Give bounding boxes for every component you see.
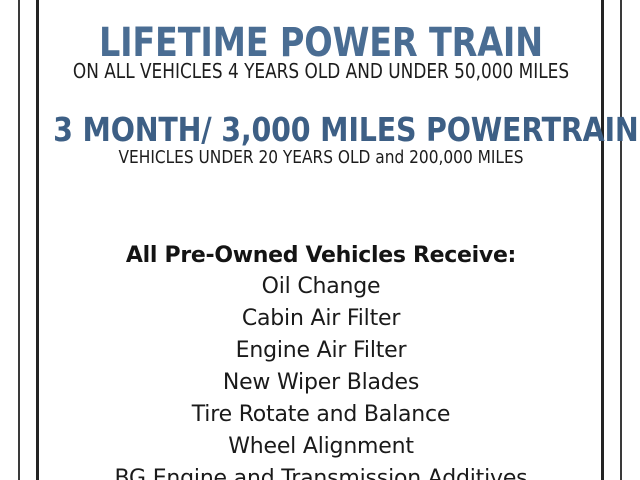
service-item: Wheel Alignment bbox=[42, 431, 600, 463]
services-section: All Pre-Owned Vehicles Receive: Oil Chan… bbox=[42, 240, 600, 480]
page-border-left-outer bbox=[18, 0, 20, 480]
service-item: Cabin Air Filter bbox=[42, 303, 600, 335]
services-heading: All Pre-Owned Vehicles Receive: bbox=[42, 240, 600, 271]
warranty-subline-3month: VEHICLES UNDER 20 YEARS OLD and 200,000 … bbox=[56, 149, 586, 167]
warranty-subline-lifetime: ON ALL VEHICLES 4 YEARS OLD AND UNDER 50… bbox=[59, 61, 584, 81]
services-list: Oil ChangeCabin Air FilterEngine Air Fil… bbox=[42, 271, 600, 480]
flyer-content: LIFETIME POWER TRAIN ON ALL VEHICLES 4 Y… bbox=[42, 0, 600, 480]
service-item: Engine Air Filter bbox=[42, 335, 600, 367]
service-item: New Wiper Blades bbox=[42, 367, 600, 399]
warranty-headline-3month: 3 MONTH/ 3,000 MILES POWERTRAIN bbox=[53, 113, 589, 146]
page-border-right-outer bbox=[620, 0, 622, 480]
service-item: BG Engine and Transmission Additives bbox=[42, 463, 600, 480]
page-border-right-inner bbox=[601, 0, 604, 480]
page-border-left-inner bbox=[36, 0, 39, 480]
service-item: Oil Change bbox=[42, 271, 600, 303]
service-item: Tire Rotate and Balance bbox=[42, 399, 600, 431]
flyer-page: LIFETIME POWER TRAIN ON ALL VEHICLES 4 Y… bbox=[0, 0, 640, 480]
warranty-headline-lifetime: LIFETIME POWER TRAIN bbox=[62, 23, 581, 63]
